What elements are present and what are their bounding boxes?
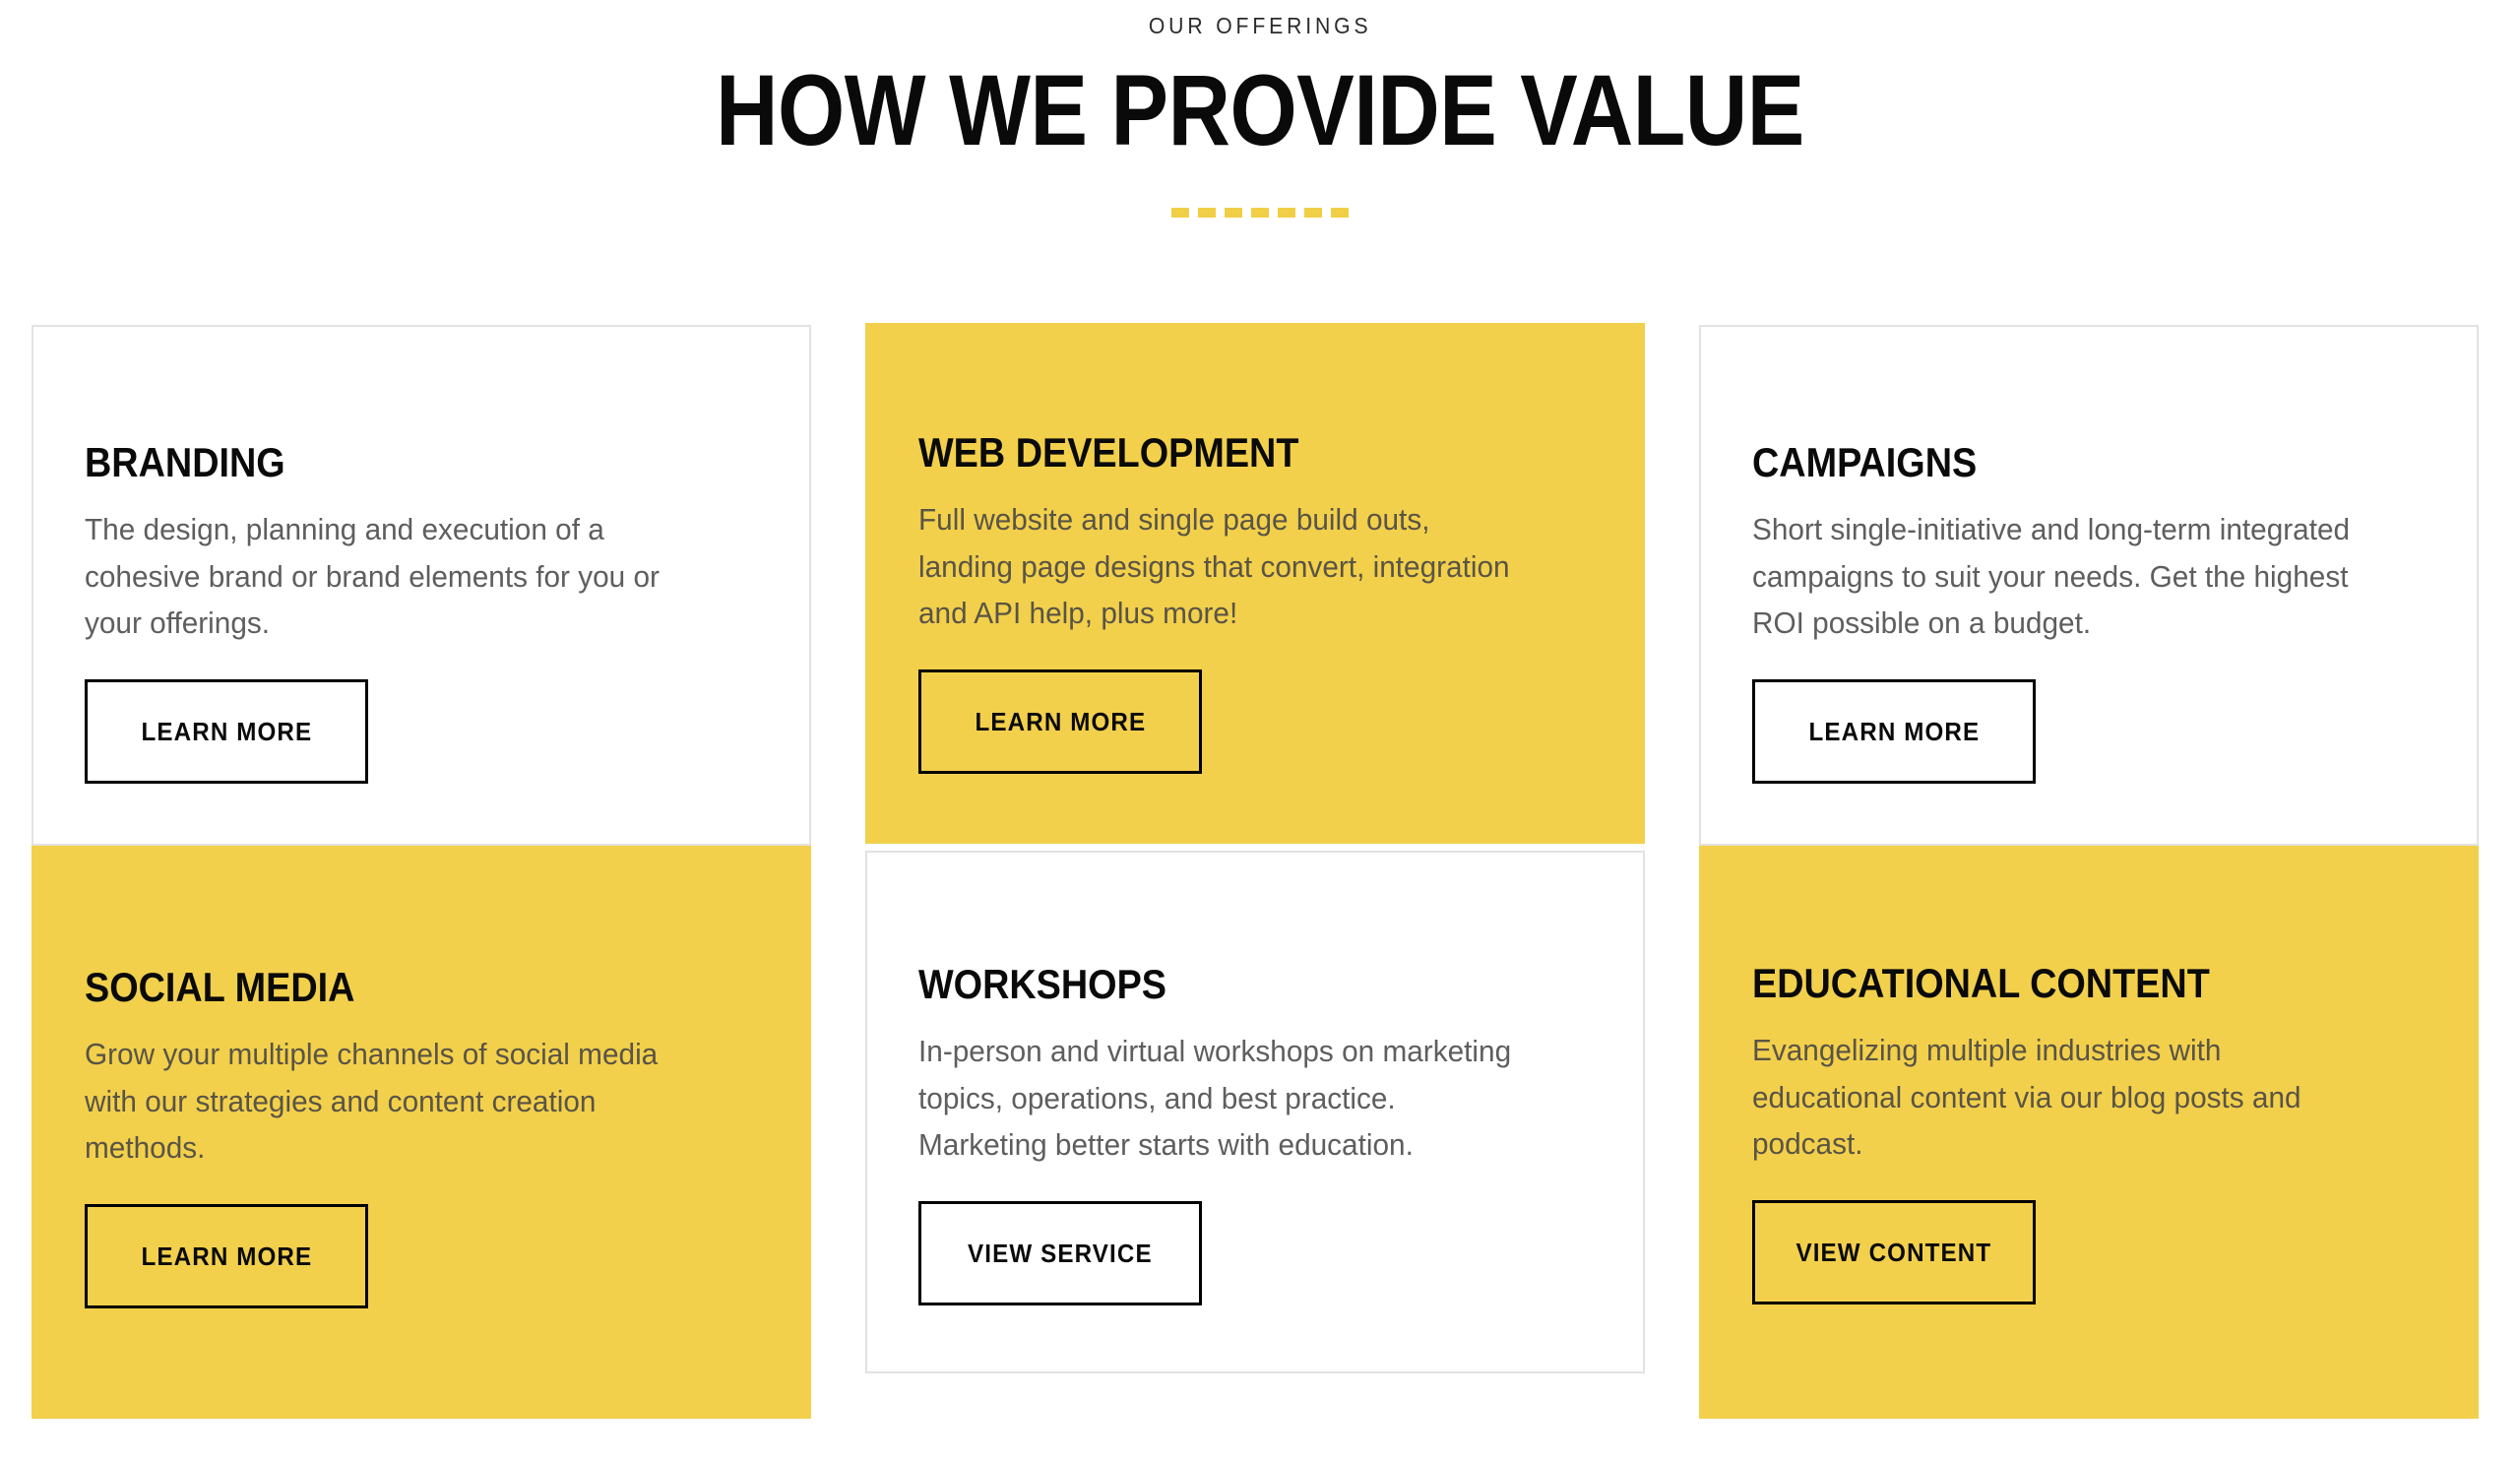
learn-more-button-social-media[interactable]: LEARN MORE [85,1204,368,1308]
grid-column: WORKSHOPS In-person and virtual workshop… [865,851,1645,1373]
button-label: LEARN MORE [141,719,312,744]
offering-card-branding[interactable]: BRANDING The design, planning and execut… [31,325,811,846]
card-description: Short single-initiative and long-term in… [1752,506,2357,646]
button-label: LEARN MORE [1808,719,1980,744]
divider-dash [1251,208,1269,218]
section-eyebrow: OUR OFFERINGS [1149,14,1372,38]
view-service-button-workshops[interactable]: VIEW SERVICE [918,1201,1202,1305]
offerings-row: SOCIAL MEDIA Grow your multiple channels… [31,851,2479,1419]
divider-dash [1331,208,1349,218]
card-description: Full website and single page build outs,… [918,496,1523,636]
offerings-section: OUR OFFERINGS HOW WE PROVIDE VALUE BRAND… [0,0,2520,1463]
offering-card-social-media[interactable]: SOCIAL MEDIA Grow your multiple channels… [31,846,811,1419]
divider-dash [1198,208,1216,218]
card-description: Evangelizing multiple industries with ed… [1752,1027,2357,1167]
section-header: OUR OFFERINGS HOW WE PROVIDE VALUE [0,0,2520,218]
card-title: WEB DEVELOPMENT [918,431,1525,475]
page-title: HOW WE PROVIDE VALUE [176,60,2344,160]
grid-column: SOCIAL MEDIA Grow your multiple channels… [31,851,811,1419]
offering-card-campaigns[interactable]: CAMPAIGNS Short single-initiative and lo… [1699,325,2479,846]
button-label: VIEW CONTENT [1796,1240,1992,1265]
offering-card-workshops[interactable]: WORKSHOPS In-person and virtual workshop… [865,851,1645,1373]
card-description: Grow your multiple channels of social me… [85,1031,689,1171]
learn-more-button-branding[interactable]: LEARN MORE [85,679,368,784]
grid-column: WEB DEVELOPMENT Full website and single … [865,325,1645,844]
dashed-divider [1171,208,1349,218]
button-label: VIEW SERVICE [968,1240,1153,1266]
card-title: SOCIAL MEDIA [85,966,691,1009]
offering-card-web-development[interactable]: WEB DEVELOPMENT Full website and single … [865,323,1645,844]
grid-column: BRANDING The design, planning and execut… [31,325,811,846]
offering-card-educational-content[interactable]: EDUCATIONAL CONTENT Evangelizing multipl… [1699,846,2479,1419]
button-label: LEARN MORE [975,709,1146,734]
card-title: EDUCATIONAL CONTENT [1752,962,2359,1005]
divider-dash [1171,208,1189,218]
card-title: BRANDING [85,441,691,484]
grid-column: EDUCATIONAL CONTENT Evangelizing multipl… [1699,851,2479,1419]
card-description: In-person and virtual workshops on marke… [918,1028,1523,1168]
grid-column: CAMPAIGNS Short single-initiative and lo… [1699,325,2479,846]
card-title: CAMPAIGNS [1752,441,2359,484]
divider-dash [1304,208,1322,218]
learn-more-button-web-development[interactable]: LEARN MORE [918,669,1202,774]
card-description: The design, planning and execution of a … [85,506,689,646]
eyebrow-wrapper: OUR OFFERINGS [0,14,2520,38]
learn-more-button-campaigns[interactable]: LEARN MORE [1752,679,2036,784]
offerings-grid: BRANDING The design, planning and execut… [31,325,2479,1419]
card-title: WORKSHOPS [918,963,1525,1006]
divider-dash [1225,208,1242,218]
button-label: LEARN MORE [141,1243,312,1269]
divider-dash [1278,208,1295,218]
offerings-row: BRANDING The design, planning and execut… [31,325,2479,846]
view-content-button-educational-content[interactable]: VIEW CONTENT [1752,1200,2036,1304]
